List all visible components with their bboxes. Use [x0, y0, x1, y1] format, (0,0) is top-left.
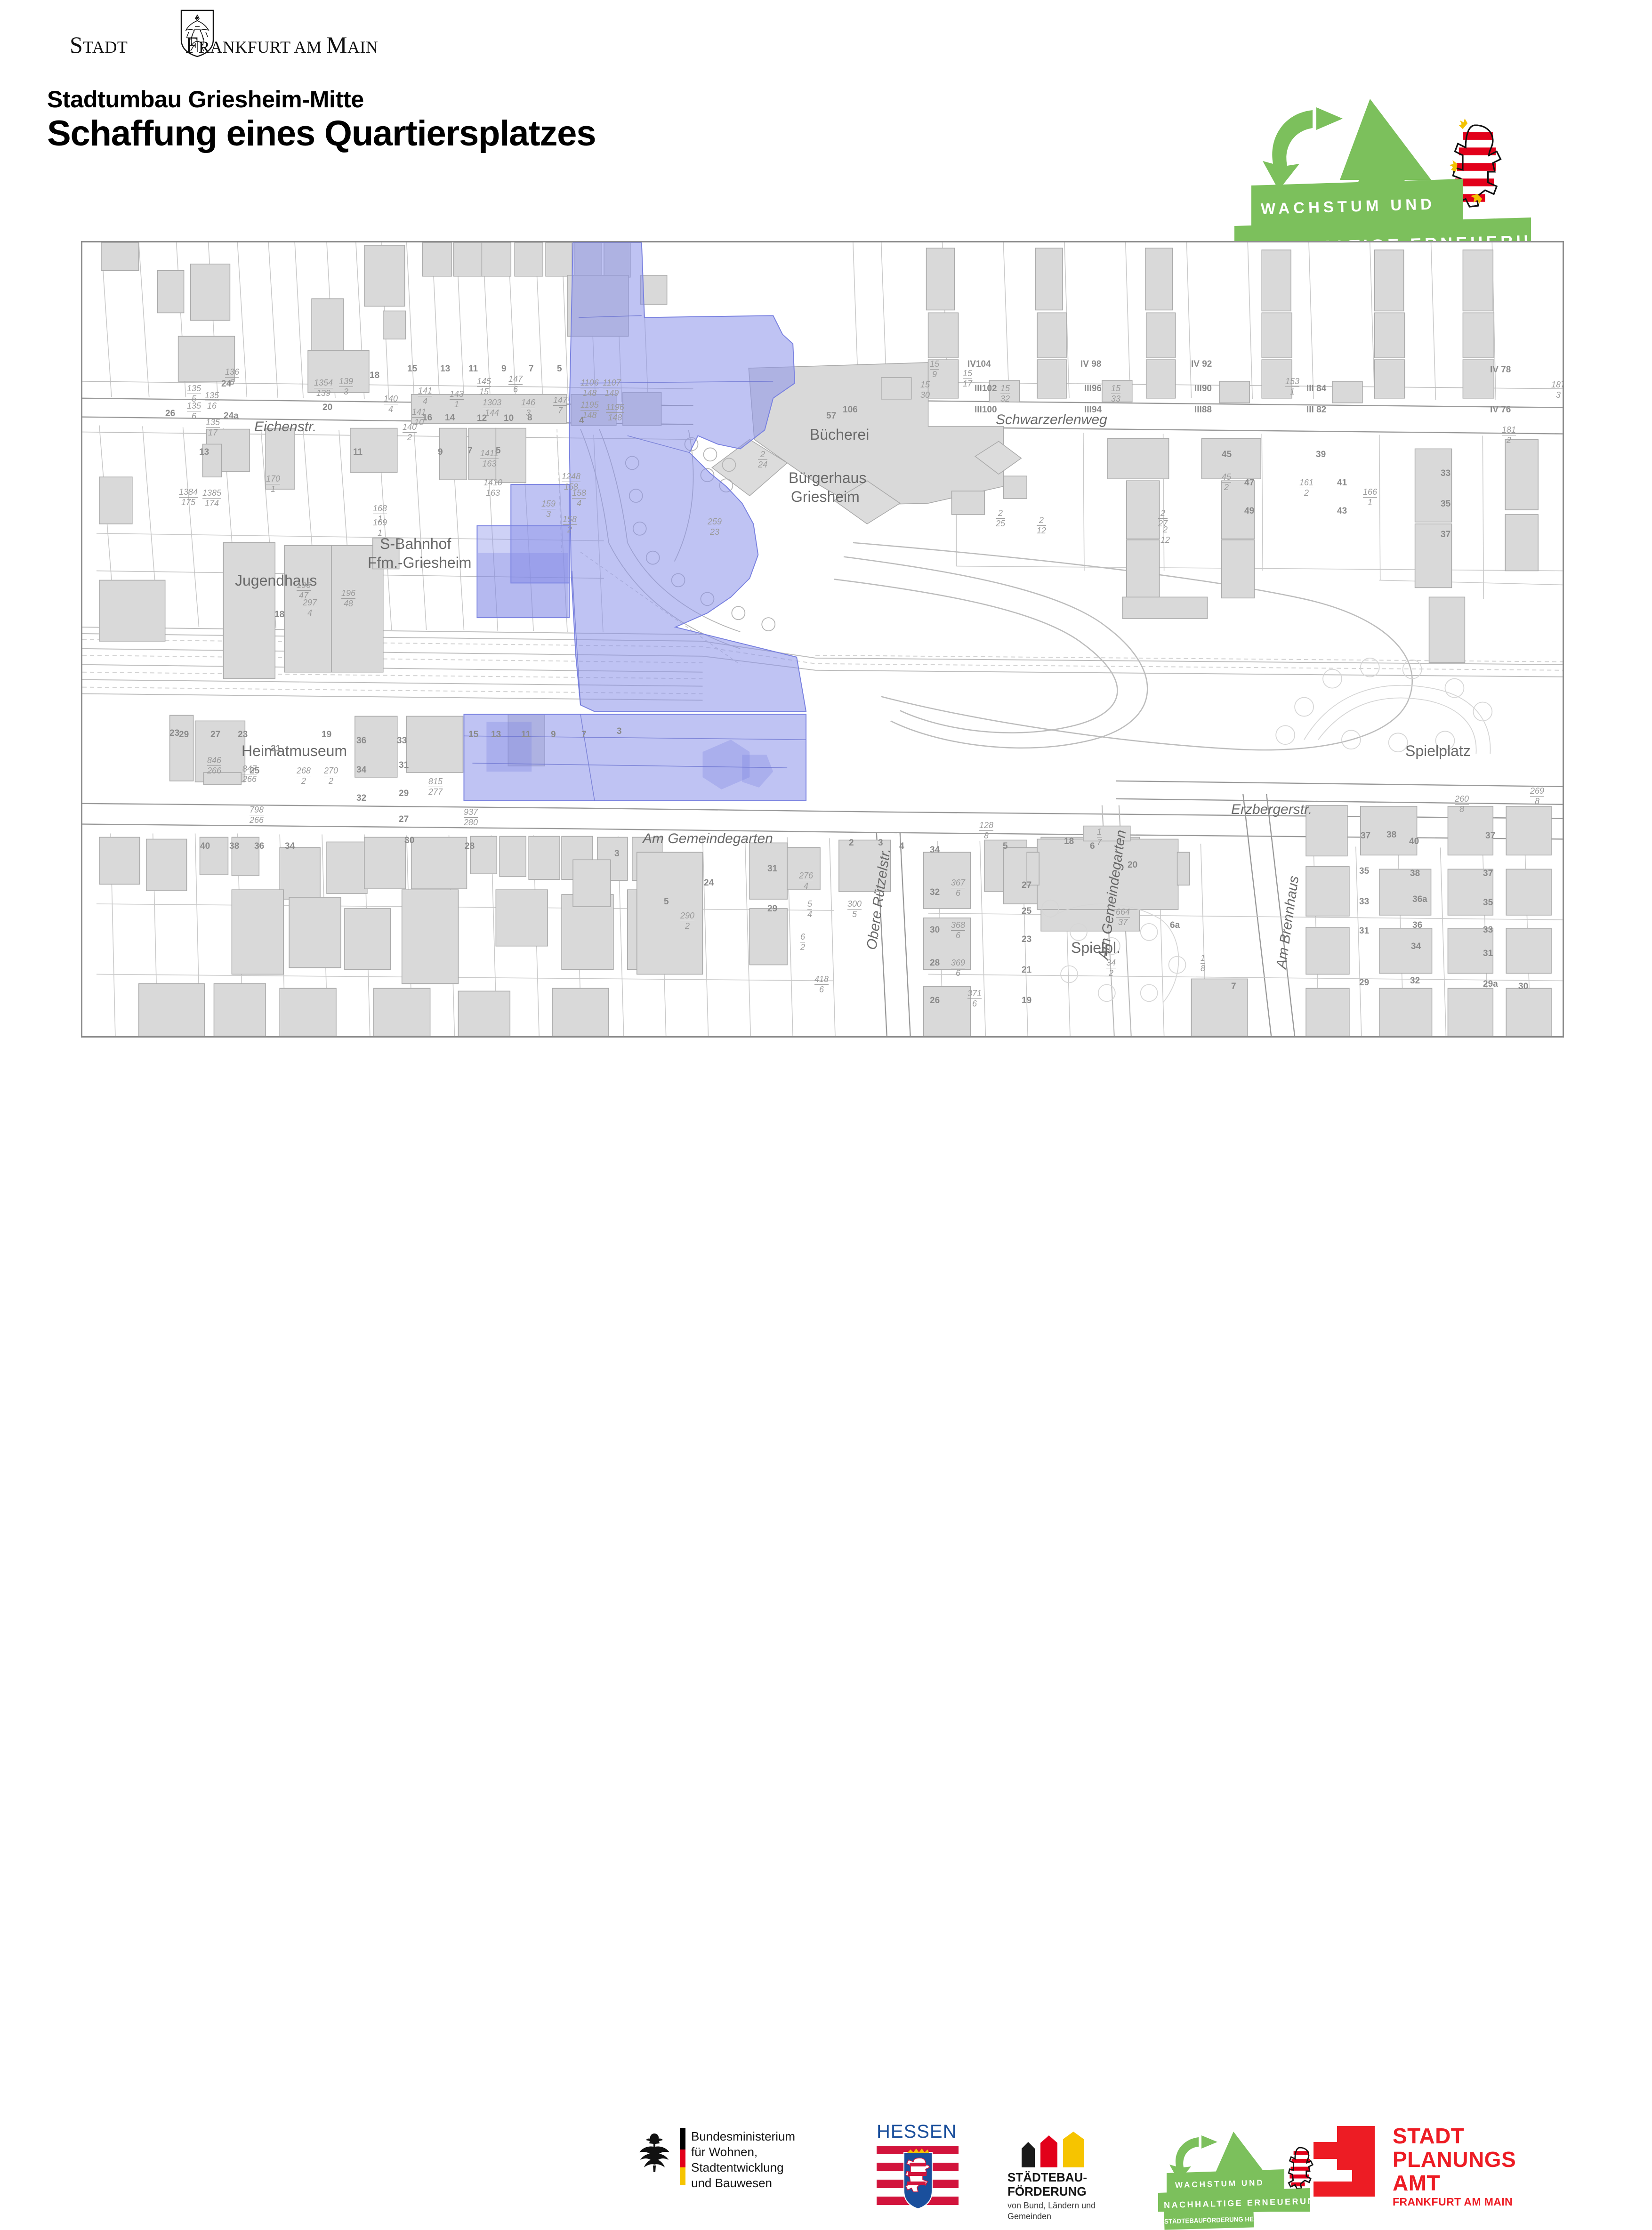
page-title: Schaffung eines Quartiersplatzes	[47, 113, 596, 154]
recycling-arrow-icon	[1263, 107, 1343, 190]
bundesadler-icon	[637, 2133, 671, 2173]
bmwsb-line1: Bundesministerium	[691, 2129, 852, 2144]
staedtebaufoerderung-logo: STÄDTEBAU- FÖRDERUNG von Bund, Ländern u…	[1007, 2132, 1120, 2216]
spa-line2: PLANUNGS	[1393, 2148, 1516, 2171]
spa-line3: AMT	[1393, 2171, 1516, 2195]
stbf-sub1: von Bund, Ländern und	[1007, 2200, 1096, 2211]
bmwsb-logo: Bundesministerium für Wohnen, Stadtentwi…	[631, 2126, 852, 2187]
program-logo-line1: WACHSTUM UND	[1260, 186, 1459, 226]
map-drawing	[82, 242, 1563, 1036]
stbf-line1: STÄDTEBAU-	[1007, 2170, 1087, 2184]
stadtplanungsamt-subtitle: FRANKFURT AM MAIN	[1393, 2196, 1513, 2208]
page-subtitle: Stadtumbau Griesheim-Mitte	[47, 86, 364, 113]
program-logo: WACHSTUM UND NACHHALTIGE ERNEUERUNG STÄD…	[1233, 85, 1563, 264]
hessen-lion-icon	[1289, 2148, 1313, 2189]
stadtplanungsamt-title: STADT PLANUNGS AMT	[1393, 2124, 1516, 2195]
site-map[interactable]: Eichenstr. Schwarzerlenweg Erzbergerstr.…	[81, 241, 1564, 1038]
german-flag-bar-icon	[680, 2128, 685, 2185]
program-logo-footer-line3: STÄDTEBAUFÖRDERUNG HESSEN	[1164, 2210, 1254, 2230]
stbf-sub2: Gemeinden	[1007, 2211, 1096, 2222]
stadtplanungsamt-block-icon	[1314, 2126, 1375, 2197]
stadtplanungsamt-logo: STADT PLANUNGS AMT FRANKFURT AM MAIN	[1314, 2126, 1539, 2206]
bmwsb-line3: und Bauwesen	[691, 2175, 852, 2191]
hessen-logo: HESSEN	[876, 2121, 960, 2211]
footer-logos: Bundesministerium für Wohnen, Stadtentwi…	[0, 1058, 1652, 1167]
three-houses-icon	[1020, 2132, 1086, 2167]
program-logo-footer-line1: WACHSTUM UND	[1175, 2174, 1284, 2194]
bmwsb-text: Bundesministerium für Wohnen, Stadtentwi…	[691, 2129, 852, 2191]
city-logo: STADT FRANKFURT AM MAIN	[70, 24, 362, 60]
hessen-wordmark: HESSEN	[877, 2121, 957, 2142]
city-logo-wordmark: STADT FRANKFURT AM MAIN	[70, 31, 362, 58]
city-logo-part1: STADT	[70, 31, 128, 58]
stbf-line2: FÖRDERUNG	[1007, 2184, 1087, 2198]
spa-line1: STADT	[1393, 2124, 1516, 2148]
hessen-shield-lion-icon	[877, 2146, 959, 2211]
staedtebaufoerderung-subtitle: von Bund, Ländern und Gemeinden	[1007, 2200, 1096, 2222]
staedtebaufoerderung-title: STÄDTEBAU- FÖRDERUNG	[1007, 2170, 1087, 2198]
bmwsb-line2: für Wohnen, Stadtentwicklung	[691, 2144, 852, 2175]
city-logo-part2: FRANKFURT AM MAIN	[185, 31, 378, 58]
